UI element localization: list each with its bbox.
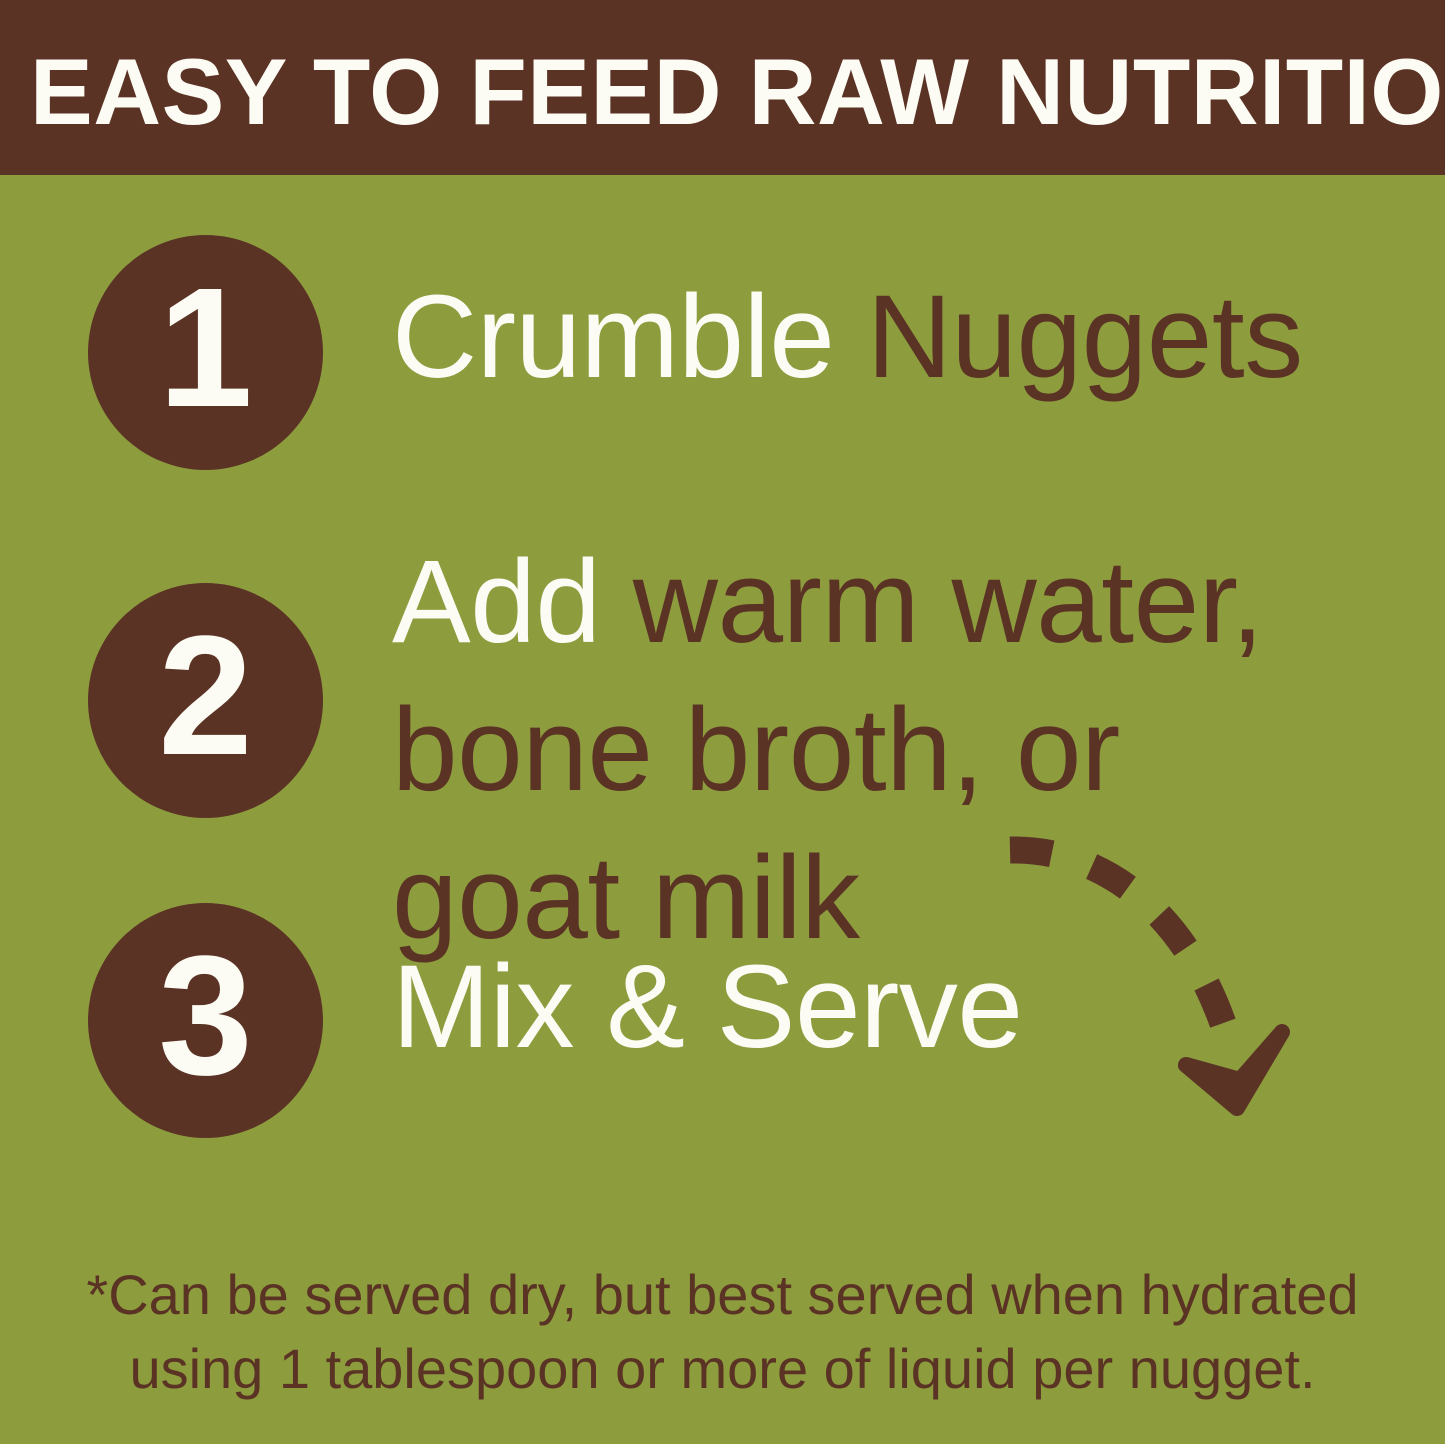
poster-root: EASY TO FEED RAW NUTRITION 1 Crumble Nug… [0, 0, 1445, 1444]
step-2-highlight-word: Add [392, 536, 633, 668]
step-3-label: Mix & Serve [392, 941, 1023, 1073]
step-number-badge-1: 1 [88, 235, 323, 470]
step-number-badge-2: 2 [88, 583, 323, 818]
step-text-1: Crumble Nuggets [392, 270, 1303, 404]
step-1-highlight-word: Crumble [392, 271, 867, 403]
footnote-line-2: using 1 tablespoon or more of liquid per… [36, 1332, 1409, 1406]
step-1-object-word: Nuggets [867, 271, 1303, 403]
page-title: EASY TO FEED RAW NUTRITION [30, 44, 1405, 140]
step-2-line2: bone broth, or [392, 684, 1120, 816]
header-banner: EASY TO FEED RAW NUTRITION [0, 0, 1445, 175]
steps-list: 1 Crumble Nuggets 2 Add warm water, bone… [0, 175, 1445, 1175]
step-text-2: Add warm water, bone broth, or goat milk [392, 528, 1402, 972]
footnote-line-1: *Can be served dry, but best served when… [36, 1258, 1409, 1332]
step-number-badge-3: 3 [88, 903, 323, 1138]
step-2-line1-rest: warm water, [633, 536, 1264, 668]
footnote: *Can be served dry, but best served when… [0, 1258, 1445, 1406]
step-text-3: Mix & Serve [392, 940, 1023, 1074]
